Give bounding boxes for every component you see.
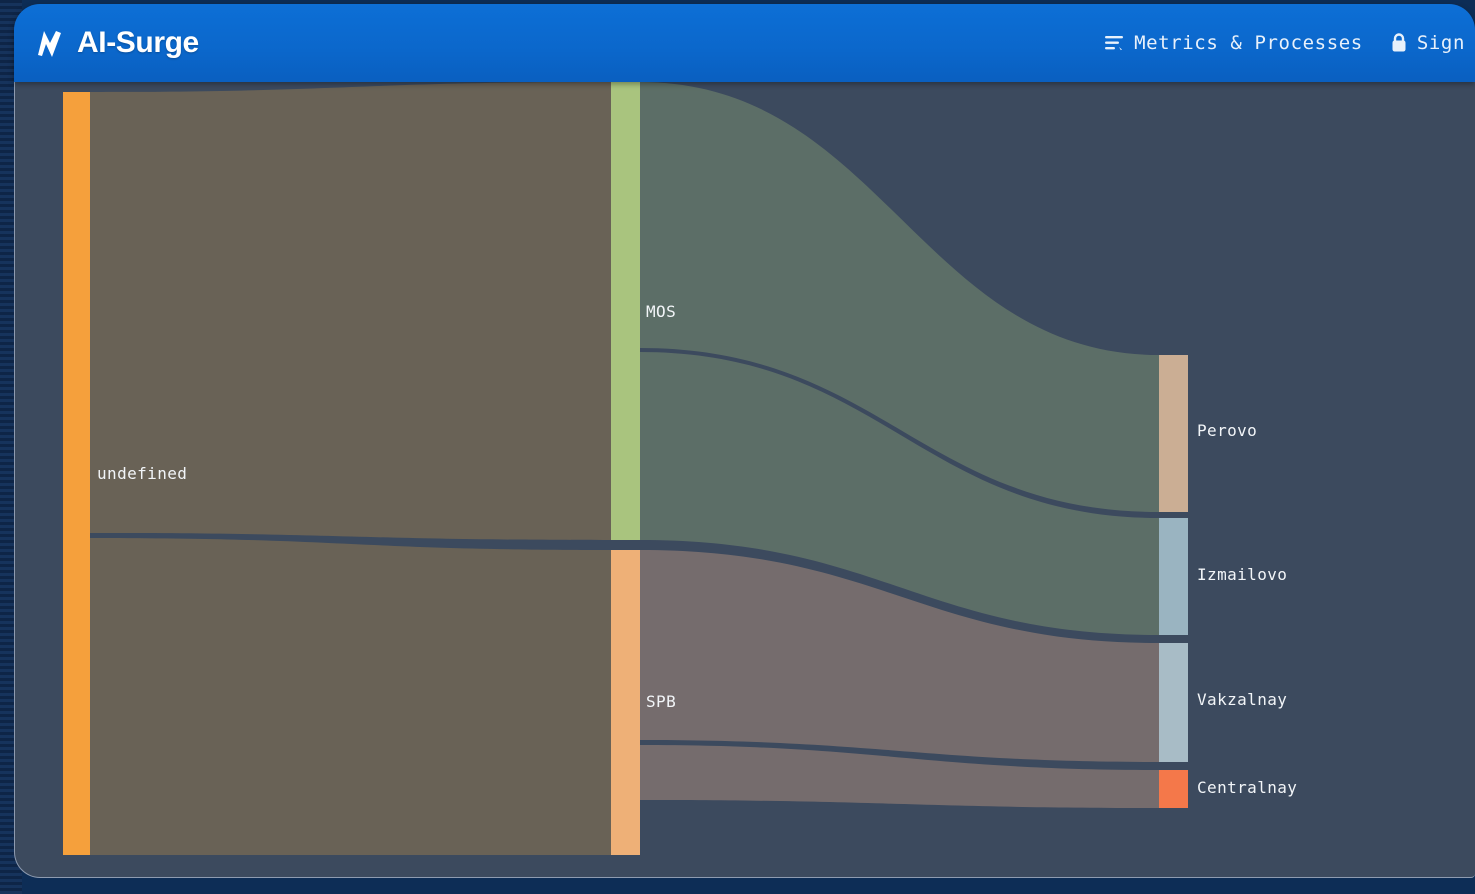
brand[interactable]: AI-Surge (30, 24, 199, 62)
brand-title: AI-Surge (77, 26, 199, 60)
app-root: AI-Surge Metrics & Processes (0, 0, 1475, 894)
lock-icon (1389, 32, 1409, 54)
lightning-logo-icon (30, 24, 68, 62)
nav-label-metrics-processes: Metrics & Processes (1134, 32, 1363, 54)
sankey-chart-canvas: undefined MOS SPB Perovo Izmailovo Vakza… (14, 76, 1475, 878)
node-label-undefined: undefined (97, 464, 187, 483)
node-label-spb: SPB (646, 692, 676, 711)
node-label-mos: MOS (646, 302, 676, 321)
node-label-centralnay: Centralnay (1197, 778, 1297, 797)
node-label-izmailovo: Izmailovo (1197, 565, 1287, 584)
header-nav: Metrics & Processes Sign (1104, 32, 1465, 54)
link-undefined-to-spb[interactable] (90, 538, 611, 855)
node-label-vakzalnay: Vakzalnay (1197, 690, 1287, 709)
node-izmailovo[interactable] (1159, 518, 1188, 635)
nav-item-metrics-processes[interactable]: Metrics & Processes (1104, 32, 1363, 54)
filter-list-icon (1104, 34, 1126, 52)
node-mos[interactable] (611, 82, 640, 540)
sankey-diagram: undefined MOS SPB Perovo Izmailovo Vakza… (14, 76, 1475, 878)
node-perovo[interactable] (1159, 355, 1188, 512)
node-vakzalnay[interactable] (1159, 643, 1188, 762)
node-undefined[interactable] (63, 92, 90, 855)
nav-item-sign[interactable]: Sign (1389, 32, 1465, 54)
app-header: AI-Surge Metrics & Processes (14, 4, 1475, 82)
node-label-perovo: Perovo (1197, 421, 1257, 440)
node-spb[interactable] (611, 550, 640, 855)
node-centralnay[interactable] (1159, 770, 1188, 808)
nav-label-sign: Sign (1417, 32, 1465, 54)
